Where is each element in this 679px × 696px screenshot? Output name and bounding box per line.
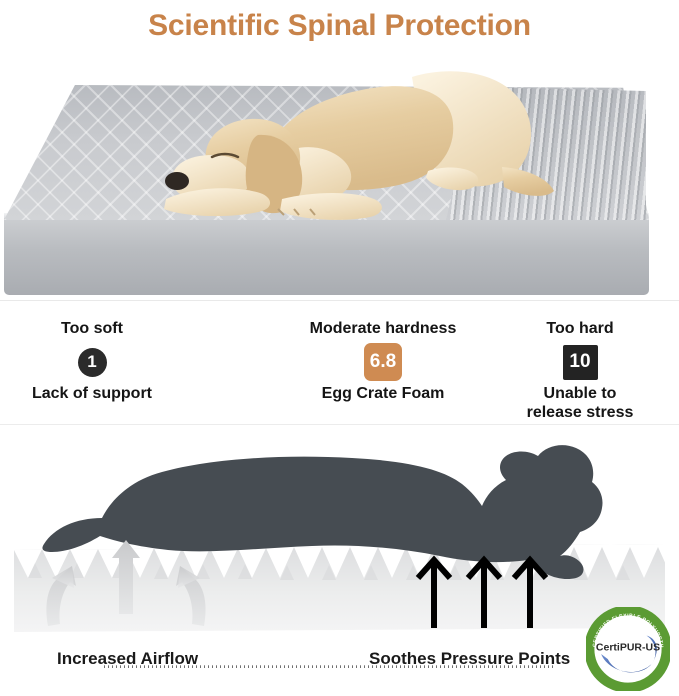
certipur-us-badge: CONTAINS CERTIFIED FLEXIBLE POLYURETHANE… [586,607,670,691]
scale-marker-moderate: Moderate hardness 6.8 Egg Crate Foam [288,320,478,403]
page-title: Scientific Spinal Protection [148,9,531,43]
scale-value-badge-10: 10 [563,345,598,380]
caption-increased-airflow: Increased Airflow [57,649,198,669]
scale-bottom-label-unable-line1: Unable to [494,384,666,403]
page-title-bar: Scientific Spinal Protection [0,0,679,52]
scale-top-label-too-soft: Too soft [6,320,178,338]
scale-badge-row-moderate: 6.8 [288,340,478,384]
certipur-center-text: CertiPUR-US [596,642,660,654]
scale-top-label-moderate-hardness: Moderate hardness [288,320,478,338]
section-divider-top [0,300,679,301]
scale-top-label-too-hard: Too hard [494,320,666,338]
scale-badge-row-too-soft: 1 [6,340,178,384]
scale-value-badge-6-8: 6.8 [364,343,402,381]
caption-soothes-pressure-points: Soothes Pressure Points [369,649,570,669]
hardness-scale: Too soft 1 Lack of support Moderate hard… [0,310,679,420]
scale-marker-too-soft: Too soft 1 Lack of support [6,320,178,403]
labrador-photo-illustration [150,59,570,229]
scale-bottom-label-egg-crate-foam: Egg Crate Foam [288,384,478,403]
scale-bottom-label-unable-line2: release stress [494,403,666,422]
foam-cross-section-diagram [0,432,679,656]
scale-badge-row-too-hard: 10 [494,340,666,384]
scale-value-badge-1: 1 [78,348,107,377]
hero-product-photo [0,55,679,295]
scale-bottom-label-lack-of-support: Lack of support [6,384,178,403]
section-divider-bottom [0,424,679,425]
scale-marker-too-hard: Too hard 10 Unable to release stress [494,320,666,422]
